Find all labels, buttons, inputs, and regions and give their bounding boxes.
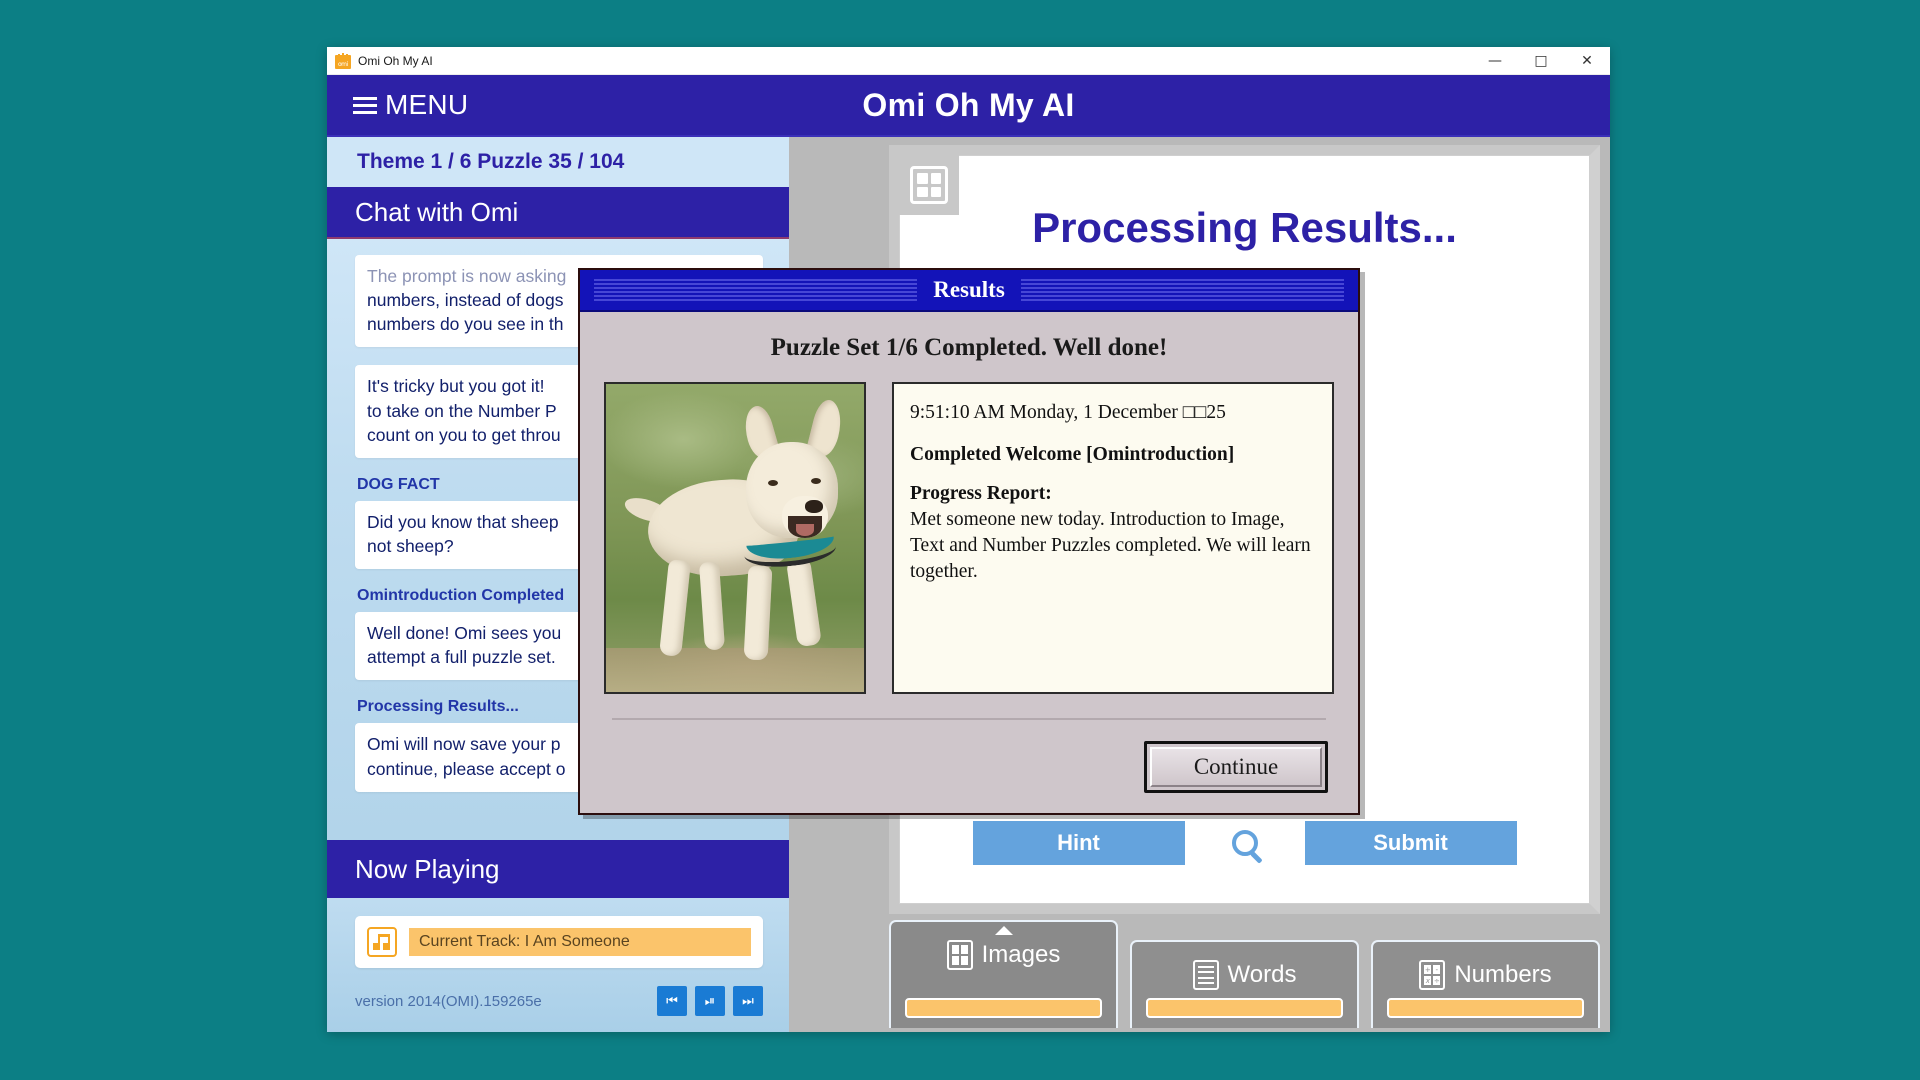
document-lines-icon — [1193, 960, 1219, 990]
omi-app-icon: omi — [335, 53, 351, 69]
app-header: MENU Omi Oh My AI — [327, 75, 1610, 137]
continue-button-label: Continue — [1150, 747, 1322, 787]
page-title: Processing Results... — [900, 204, 1589, 252]
dialog-footer: Continue — [580, 721, 1358, 813]
theme-progress-label: Theme 1 / 6 Puzzle 35 / 104 — [357, 150, 624, 174]
play-pause-button[interactable]: ⏯ — [695, 986, 725, 1016]
report-progress-label: Progress Report: — [910, 481, 1316, 507]
chat-heading: Chat with Omi — [327, 187, 789, 239]
tab-images-progress — [905, 998, 1102, 1018]
results-dialog: Results Puzzle Set 1/6 Completed. Well d… — [578, 268, 1360, 815]
close-button[interactable]: ✕ — [1564, 47, 1610, 74]
submit-button[interactable]: Submit — [1305, 821, 1517, 865]
dialog-titlebar: Results — [580, 270, 1358, 312]
tab-images-label-wrap: Images — [947, 940, 1061, 970]
action-row: Hint Submit — [900, 821, 1589, 865]
music-player: Current Track: I Am Someone version 2014… — [327, 898, 789, 1032]
puzzle-tabs: Images Words +-x÷ Num — [889, 916, 1600, 1028]
chat-heading-label: Chat with Omi — [355, 197, 518, 228]
current-track-label: Current Track: I Am Someone — [409, 928, 751, 956]
tab-words-label: Words — [1228, 961, 1297, 989]
report-timestamp: 9:51:10 AM Monday, 1 December □□25 — [910, 400, 1316, 426]
grid-icon — [947, 940, 973, 970]
titlebar-stripes-right — [1016, 279, 1344, 301]
dialog-separator — [612, 718, 1326, 720]
tab-words[interactable]: Words — [1130, 940, 1359, 1028]
player-footer: version 2014(OMI).159265e ⏮ ⏯ ⏭ — [355, 986, 763, 1016]
tab-numbers-progress — [1387, 998, 1584, 1018]
minimize-button[interactable]: — — [1472, 47, 1518, 74]
window-titlebar: omi Omi Oh My AI — □ ✕ — [327, 47, 1610, 75]
now-playing-label: Now Playing — [355, 854, 500, 885]
titlebar-stripes-left — [594, 279, 922, 301]
continue-button[interactable]: Continue — [1144, 741, 1328, 793]
tab-images[interactable]: Images — [889, 920, 1118, 1028]
report-completed-line: Completed Welcome [Omintroduction] — [910, 442, 1316, 468]
dialog-columns: 9:51:10 AM Monday, 1 December □□25 Compl… — [604, 382, 1334, 694]
window-title: Omi Oh My AI — [358, 54, 433, 68]
tab-numbers-label: Numbers — [1454, 961, 1551, 989]
track-card[interactable]: Current Track: I Am Someone — [355, 916, 763, 968]
desktop-background: omi Omi Oh My AI — □ ✕ MENU Omi Oh My AI… — [0, 0, 1920, 1080]
maximize-button[interactable]: □ — [1518, 47, 1564, 74]
running-dog-photo — [604, 382, 866, 694]
now-playing-heading: Now Playing — [327, 840, 789, 898]
calculator-icon: +-x÷ — [1419, 960, 1445, 990]
tab-numbers-label-wrap: +-x÷ Numbers — [1419, 960, 1551, 990]
search-icon-wrap[interactable] — [1185, 830, 1305, 856]
magnifier-icon[interactable] — [1232, 830, 1258, 856]
tab-images-label: Images — [982, 941, 1061, 969]
next-track-button[interactable]: ⏭ — [733, 986, 763, 1016]
report-progress-body: Met someone new today. Introduction to I… — [910, 507, 1316, 584]
dialog-title: Results — [917, 277, 1021, 303]
hint-button[interactable]: Hint — [973, 821, 1185, 865]
music-note-icon — [367, 927, 397, 957]
previous-track-button[interactable]: ⏮ — [657, 986, 687, 1016]
caret-up-icon — [995, 926, 1013, 935]
theme-progress-bar: Theme 1 / 6 Puzzle 35 / 104 — [327, 137, 789, 187]
tab-words-progress — [1146, 998, 1343, 1018]
app-title: Omi Oh My AI — [327, 87, 1610, 124]
tab-words-label-wrap: Words — [1193, 960, 1297, 990]
version-label: version 2014(OMI).159265e — [355, 993, 649, 1010]
tab-numbers[interactable]: +-x÷ Numbers — [1371, 940, 1600, 1028]
dialog-body: Puzzle Set 1/6 Completed. Well done! — [580, 312, 1358, 721]
progress-report-panel: 9:51:10 AM Monday, 1 December □□25 Compl… — [892, 382, 1334, 694]
dialog-heading: Puzzle Set 1/6 Completed. Well done! — [604, 334, 1334, 362]
